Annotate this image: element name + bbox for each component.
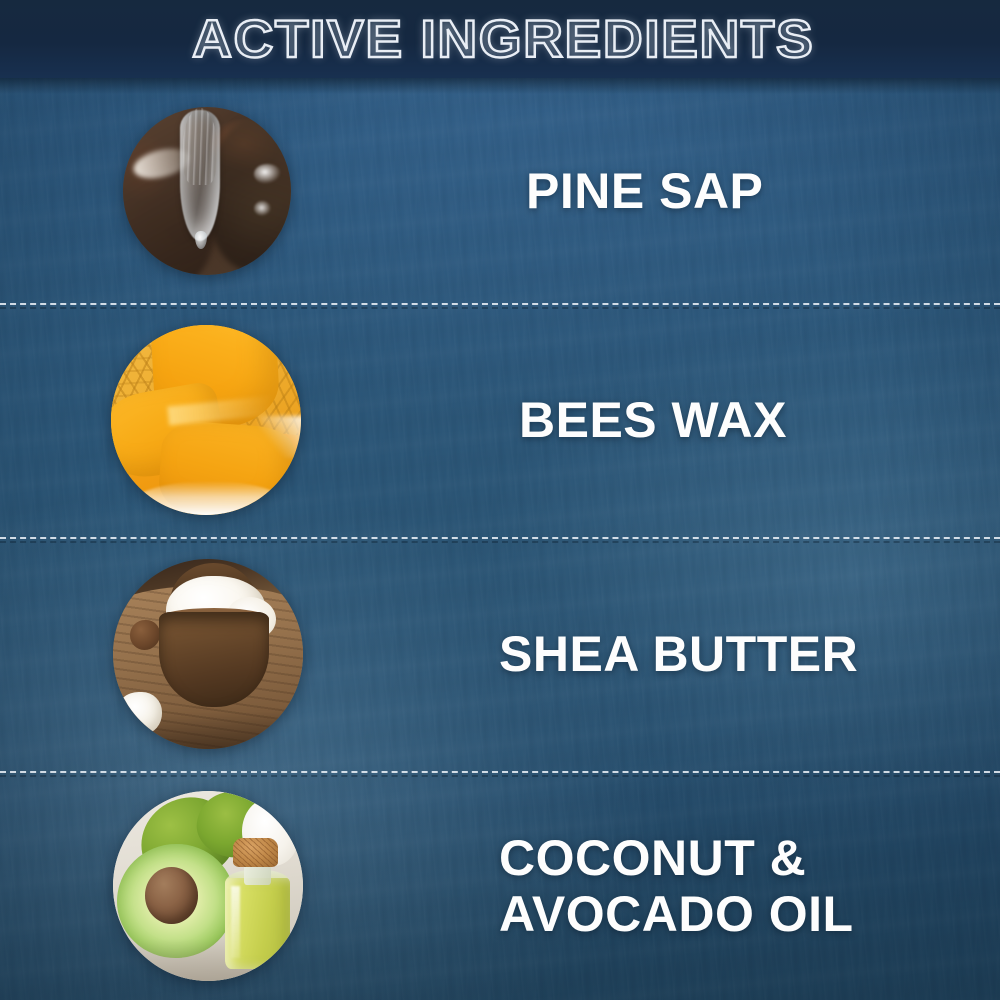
header-band: ACTIVE INGREDIENTS <box>0 0 1000 78</box>
pine-sap-photo <box>123 107 291 275</box>
coconut-avocado-oil-photo <box>113 791 303 981</box>
bees-wax-art <box>111 325 301 515</box>
active-ingredients-poster: ACTIVE INGREDIENTS PINE SAP <box>0 0 1000 1000</box>
shea-butter-photo <box>113 559 303 749</box>
shea-butter-chunk <box>117 692 163 734</box>
bottle-highlight <box>231 886 241 958</box>
ingredient-label: BEES WAX <box>519 392 787 448</box>
list-item[interactable]: SHEA BUTTER <box>0 537 1000 771</box>
specular-highlight-2 <box>254 201 271 216</box>
avocado-pit <box>145 867 198 924</box>
bees-wax-photo <box>111 325 301 515</box>
coconut-avocado-art <box>113 791 303 981</box>
ingredient-list: PINE SAP BEES WAX <box>0 78 1000 1000</box>
resin-fiber <box>183 108 217 185</box>
ingredient-label: SHEA BUTTER <box>499 626 858 682</box>
row-divider <box>0 771 1000 773</box>
row-divider <box>0 537 1000 539</box>
list-item[interactable]: BEES WAX <box>0 303 1000 537</box>
list-item[interactable]: PINE SAP <box>0 78 1000 303</box>
row-divider <box>0 303 1000 305</box>
header-shadow <box>0 78 1000 94</box>
ingredient-label: PINE SAP <box>526 163 763 219</box>
pine-sap-art <box>123 107 291 275</box>
page-title: ACTIVE INGREDIENTS <box>186 13 814 66</box>
specular-highlight-1 <box>254 164 281 184</box>
backdrop-white-right <box>259 416 301 458</box>
oil-bottle-cork <box>233 838 279 867</box>
ingredient-label: COCONUT & AVOCADO OIL <box>499 830 854 942</box>
list-item[interactable]: COCONUT & AVOCADO OIL <box>0 771 1000 1000</box>
shea-butter-art <box>113 559 303 749</box>
